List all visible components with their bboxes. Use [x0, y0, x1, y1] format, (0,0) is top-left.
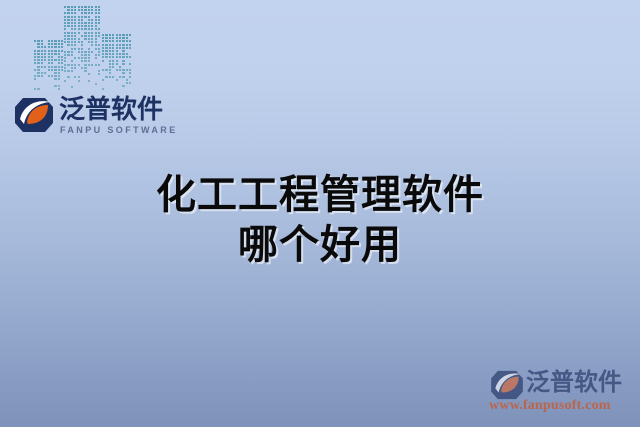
pixel-city-skyline-icon — [34, 0, 166, 96]
brand-name-en: FANPU SOFTWARE — [60, 125, 178, 135]
watermark: 泛普软件 www.fanpusoft.com — [488, 366, 638, 422]
watermark-url: www.fanpusoft.com — [489, 398, 611, 414]
fanpu-logo-mark-icon — [14, 97, 54, 133]
watermark-name-cn: 泛普软件 — [526, 369, 622, 395]
page-title-line-2: 哪个好用 — [0, 220, 640, 270]
brand-name-cn: 泛普软件 — [59, 96, 163, 124]
poster-canvas: 泛普软件 FANPU SOFTWARE 化工工程管理软件 哪个好用 泛普软件 w… — [0, 0, 640, 427]
watermark-logo-mark-icon — [490, 370, 524, 400]
page-title: 化工工程管理软件 哪个好用 — [0, 170, 640, 270]
brand-wordmark: 泛普软件 FANPU SOFTWARE — [59, 94, 174, 140]
brand-logo: 泛普软件 FANPU SOFTWARE — [12, 94, 172, 144]
page-title-line-1: 化工工程管理软件 — [0, 170, 640, 220]
